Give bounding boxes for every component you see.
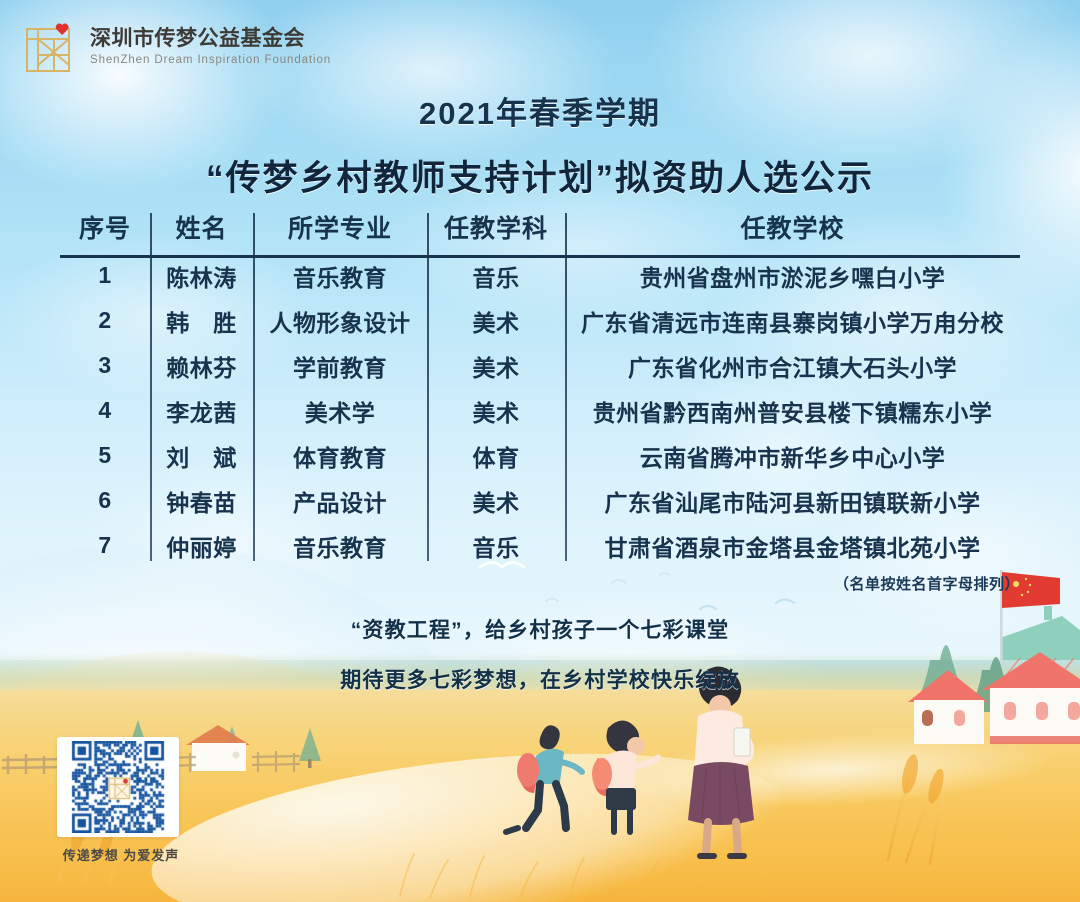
qr-canvas bbox=[61, 741, 175, 833]
header-school: 任教学校 bbox=[565, 205, 1020, 253]
mid-right-fence bbox=[252, 751, 300, 772]
cell-index: 2 bbox=[60, 298, 150, 343]
cell-major: 学前教育 bbox=[253, 343, 427, 388]
qr-caption: 传递梦想 为爱发声 bbox=[57, 845, 185, 864]
cell-school: 云南省腾冲市新华乡中心小学 bbox=[565, 433, 1020, 478]
cell-subject: 音乐 bbox=[427, 523, 565, 568]
page-title: 2021年春季学期 “传梦乡村教师支持计划”拟资助人选公示 bbox=[0, 88, 1080, 201]
qr-code-icon[interactable] bbox=[57, 737, 179, 837]
girl-with-backpack bbox=[592, 720, 658, 832]
slogan-line-1: “资教工程”，给乡村孩子一个七彩课堂 bbox=[0, 614, 1080, 644]
right-of-house-tree bbox=[299, 728, 321, 768]
qr-block[interactable]: 传递梦想 为爱发声 bbox=[57, 737, 185, 864]
cell-subject: 音乐 bbox=[427, 253, 565, 298]
poster-root: 深圳市传梦公益基金会 ShenZhen Dream Inspiration Fo… bbox=[0, 0, 1080, 902]
cell-index: 7 bbox=[60, 523, 150, 568]
cell-school: 广东省清远市连南县寨岗镇小学万甪分校 bbox=[565, 298, 1020, 343]
cell-name: 陈林涛 bbox=[150, 253, 253, 298]
cell-school: 广东省化州市合江镇大石头小学 bbox=[565, 343, 1020, 388]
header-rule bbox=[60, 255, 1020, 258]
header-subject: 任教学科 bbox=[427, 205, 565, 253]
cell-major: 音乐教育 bbox=[253, 253, 427, 298]
roster-note: （名单按姓名首字母排列） bbox=[60, 573, 1020, 594]
cell-subject: 美术 bbox=[427, 298, 565, 343]
cell-subject: 美术 bbox=[427, 343, 565, 388]
cell-index: 3 bbox=[60, 343, 150, 388]
slogan-block: “资教工程”，给乡村孩子一个七彩课堂 期待更多七彩梦想，在乡村学校快乐绽放 bbox=[0, 614, 1080, 694]
cell-name: 仲丽婷 bbox=[150, 523, 253, 568]
title-line-1: 2021年春季学期 bbox=[0, 88, 1080, 133]
cell-major: 人物形象设计 bbox=[253, 298, 427, 343]
cell-school: 贵州省盘州市淤泥乡嘿白小学 bbox=[565, 253, 1020, 298]
cell-index: 4 bbox=[60, 388, 150, 433]
running-boy-with-backpack bbox=[506, 725, 582, 832]
cell-index: 1 bbox=[60, 253, 150, 298]
table-header-row: 序号 姓名 所学专业 任教学科 任教学校 bbox=[60, 205, 1020, 253]
cell-subject: 美术 bbox=[427, 388, 565, 433]
cell-school: 甘肃省酒泉市金塔县金塔镇北苑小学 bbox=[565, 523, 1020, 568]
cell-name: 钟春苗 bbox=[150, 478, 253, 523]
title-line-2: “传梦乡村教师支持计划”拟资助人选公示 bbox=[0, 150, 1080, 201]
column-divider bbox=[150, 213, 152, 561]
cell-name: 韩 胜 bbox=[150, 298, 253, 343]
roster-table: 序号 姓名 所学专业 任教学科 任教学校 1 陈林涛 音乐教育 音乐 贵州省盘州… bbox=[60, 205, 1020, 568]
header-name: 姓名 bbox=[150, 205, 253, 253]
cell-index: 6 bbox=[60, 478, 150, 523]
cell-subject: 美术 bbox=[427, 478, 565, 523]
teacher-figure bbox=[688, 666, 754, 856]
table-row: 2 韩 胜 人物形象设计 美术 广东省清远市连南县寨岗镇小学万甪分校 bbox=[60, 298, 1020, 343]
cell-major: 音乐教育 bbox=[253, 523, 427, 568]
table-row: 6 钟春苗 产品设计 美术 广东省汕尾市陆河县新田镇联新小学 bbox=[60, 478, 1020, 523]
dream-frame-heart-logo-icon bbox=[24, 20, 78, 74]
table-row: 5 刘 斌 体育教育 体育 云南省腾冲市新华乡中心小学 bbox=[60, 433, 1020, 478]
column-divider bbox=[565, 213, 567, 561]
roster-table-wrapper: 序号 姓名 所学专业 任教学科 任教学校 1 陈林涛 音乐教育 音乐 贵州省盘州… bbox=[60, 205, 1020, 568]
column-divider bbox=[427, 213, 429, 561]
table-row: 7 仲丽婷 音乐教育 音乐 甘肃省酒泉市金塔县金塔镇北苑小学 bbox=[60, 523, 1020, 568]
table-row: 3 赖林芬 学前教育 美术 广东省化州市合江镇大石头小学 bbox=[60, 343, 1020, 388]
cell-major: 体育教育 bbox=[253, 433, 427, 478]
table-row: 1 陈林涛 音乐教育 音乐 贵州省盘州市淤泥乡嘿白小学 bbox=[60, 253, 1020, 298]
header-major: 所学专业 bbox=[253, 205, 427, 253]
column-divider bbox=[253, 213, 255, 561]
header-index: 序号 bbox=[60, 205, 150, 253]
slogan-line-2: 期待更多七彩梦想，在乡村学校快乐绽放 bbox=[0, 664, 1080, 694]
cell-name: 刘 斌 bbox=[150, 433, 253, 478]
table-row: 4 李龙茜 美术学 美术 贵州省黔西南州普安县楼下镇糯东小学 bbox=[60, 388, 1020, 433]
cell-name: 赖林芬 bbox=[150, 343, 253, 388]
cell-major: 美术学 bbox=[253, 388, 427, 433]
wheat-stalks bbox=[60, 753, 947, 898]
foundation-logo[interactable]: 深圳市传梦公益基金会 ShenZhen Dream Inspiration Fo… bbox=[24, 20, 331, 74]
logo-name-cn: 深圳市传梦公益基金会 bbox=[90, 28, 331, 49]
cell-major: 产品设计 bbox=[253, 478, 427, 523]
logo-name-en: ShenZhen Dream Inspiration Foundation bbox=[90, 55, 331, 67]
cell-name: 李龙茜 bbox=[150, 388, 253, 433]
cell-index: 5 bbox=[60, 433, 150, 478]
cell-school: 贵州省黔西南州普安县楼下镇糯东小学 bbox=[565, 388, 1020, 433]
cell-subject: 体育 bbox=[427, 433, 565, 478]
cell-school: 广东省汕尾市陆河县新田镇联新小学 bbox=[565, 478, 1020, 523]
